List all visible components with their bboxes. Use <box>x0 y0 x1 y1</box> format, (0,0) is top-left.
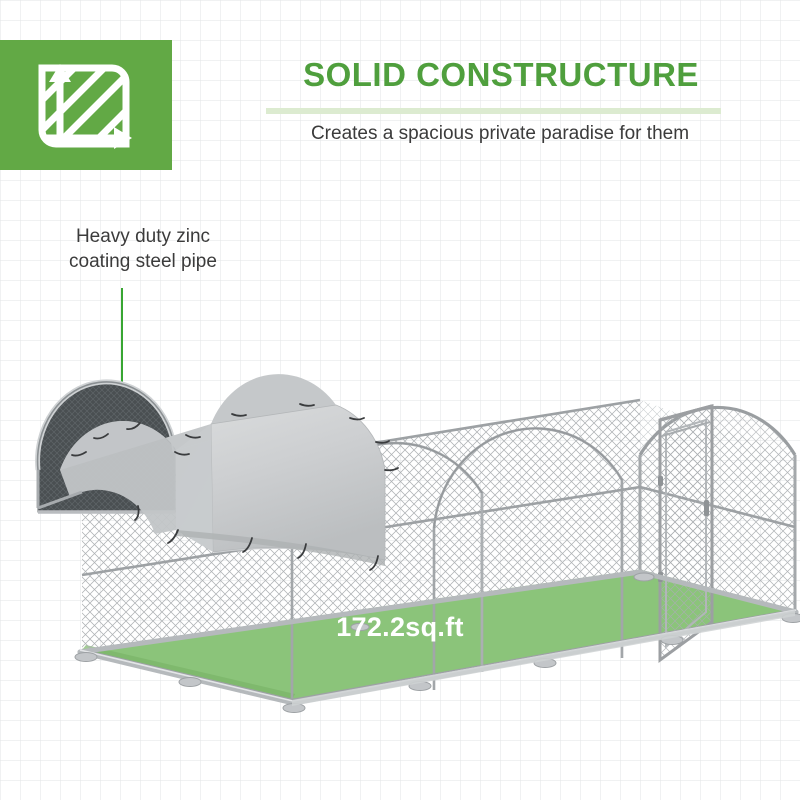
door-hinge-icon <box>658 476 663 486</box>
product-illustration <box>0 0 800 800</box>
door-latch-icon[interactable] <box>704 500 709 516</box>
walk-in-door[interactable] <box>658 406 712 660</box>
floor-area-label: 172.2sq.ft <box>280 612 520 643</box>
